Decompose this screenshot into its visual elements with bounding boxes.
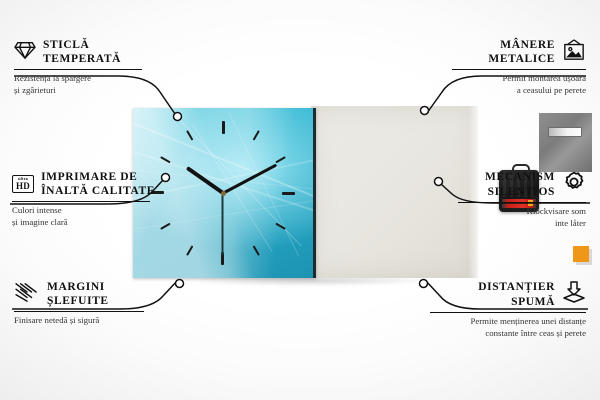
- metal-hanger-plate: [539, 113, 592, 172]
- clock-hub: [221, 191, 226, 196]
- callout-header: MECANISMSILENȚIOS: [446, 170, 586, 199]
- callout-title: MECANISMSILENȚIOS: [485, 170, 555, 198]
- callout-tempered-glass[interactable]: STICLĂTEMPERATĂ Rezistență la spargereși…: [14, 38, 154, 97]
- callout-subtitle: Klockvisare sominte låter: [446, 206, 586, 229]
- callout-header: MÂNEREMETALICE: [440, 38, 586, 66]
- hour-hand: [186, 166, 224, 195]
- callout-high-quality-print[interactable]: ultra HD IMPRIMARE DEÎNALTĂ CALITATE Cul…: [12, 170, 162, 229]
- callout-header: STICLĂTEMPERATĂ: [14, 38, 154, 66]
- callout-title: DISTANȚIERSPUMĂ: [478, 280, 555, 308]
- callout-title: MARGINIȘLEFUITE: [47, 280, 109, 308]
- callout-title: IMPRIMARE DEÎNALTĂ CALITATE: [41, 170, 155, 198]
- callout-rule: [430, 312, 586, 313]
- gear-icon: [562, 170, 586, 199]
- diamond-icon: [14, 40, 36, 65]
- callout-header: MARGINIȘLEFUITE: [14, 280, 156, 308]
- ultra-hd-icon: ultra HD: [12, 175, 34, 192]
- callout-header: DISTANȚIERSPUMĂ: [418, 280, 586, 309]
- callout-subtitle: Finisare netedă și sigură: [14, 315, 156, 327]
- callout-header: ultra HD IMPRIMARE DEÎNALTĂ CALITATE: [12, 170, 162, 198]
- callout-foam-spacer[interactable]: DISTANȚIERSPUMĂ Permite menținerea unei …: [418, 280, 586, 340]
- callout-subtitle: Culori intenseși imagine clară: [12, 205, 162, 228]
- callout-subtitle: Permite menținerea unei distanțeconstant…: [418, 316, 586, 339]
- picture-frame-icon: [562, 39, 586, 66]
- callout-subtitle: Rezistență la spargereși zgârieturi: [14, 73, 154, 96]
- hanger-slot: [548, 127, 582, 137]
- infographic-stage: STICLĂTEMPERATĂ Rezistență la spargereși…: [0, 0, 600, 400]
- foam-spacer: [573, 246, 589, 262]
- callout-silent-mechanism[interactable]: MECANISMSILENȚIOS Klockvisare sominte lå…: [446, 170, 586, 230]
- callout-rule: [458, 202, 586, 203]
- callout-polished-edges[interactable]: MARGINIȘLEFUITE Finisare netedă și sigur…: [14, 280, 156, 327]
- callout-rule: [12, 201, 150, 202]
- callout-rule: [452, 69, 586, 70]
- down-arrow-layers-icon: [562, 280, 586, 309]
- callout-subtitle: Permit montarea ușoarăa ceasului pe pere…: [440, 73, 586, 96]
- callout-title: MÂNEREMETALICE: [488, 38, 555, 66]
- callout-title: STICLĂTEMPERATĂ: [43, 38, 121, 66]
- polished-edges-icon: [14, 282, 40, 307]
- callout-rule: [14, 69, 142, 70]
- product-image: [133, 106, 478, 284]
- callout-rule: [14, 311, 144, 312]
- callout-metal-handles[interactable]: MÂNEREMETALICE Permit montarea ușoarăa c…: [440, 38, 586, 97]
